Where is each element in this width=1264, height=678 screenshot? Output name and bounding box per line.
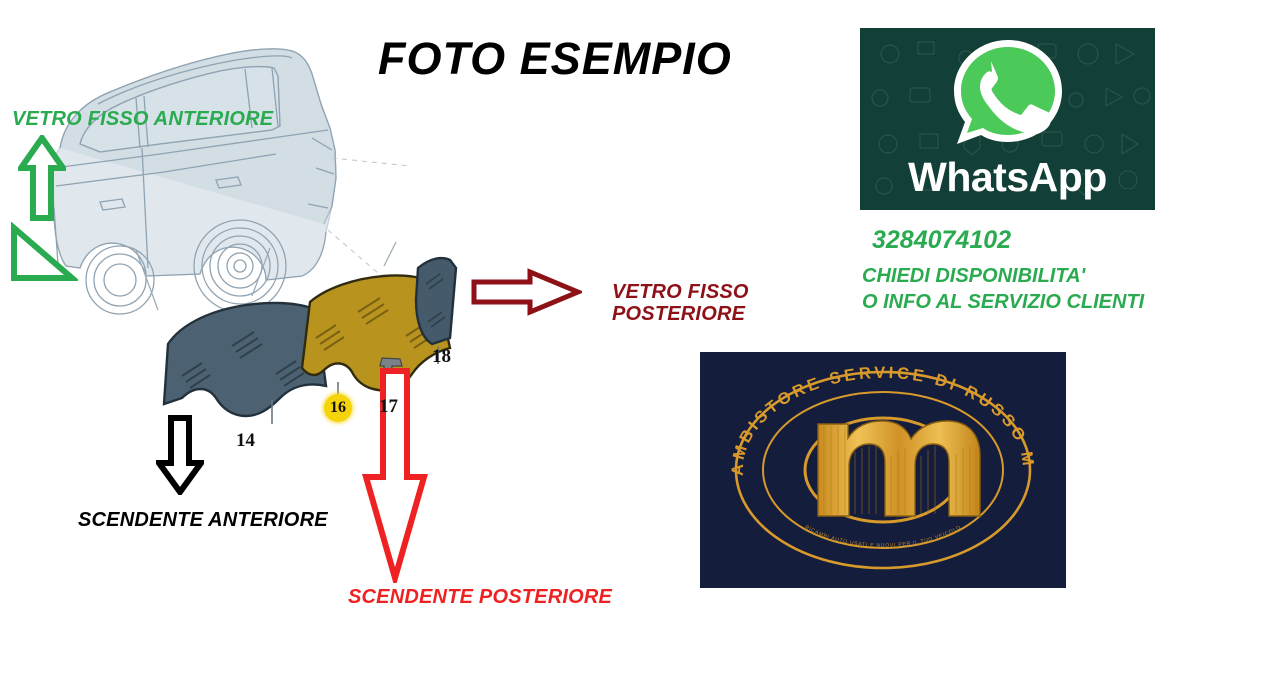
whatsapp-logo-icon xyxy=(945,34,1071,163)
darkred-right-arrow-icon xyxy=(470,268,582,321)
label-scendente-posteriore: SCENDENTE POSTERIORE xyxy=(348,586,612,608)
label-vetro-fisso-posteriore: VETRO FISSO POSTERIORE xyxy=(612,281,749,326)
shop-logo: MRICAMBISTORE SERVICE DI RUSSO MARCO RIC… xyxy=(700,352,1066,588)
part-number-18: 18 xyxy=(432,346,451,368)
screenshot-canvas: 14 16 17 18 FOTO ESEMPIO VETRO FISSO ANT… xyxy=(0,0,1264,678)
black-down-arrow-icon xyxy=(156,415,204,500)
part-number-17: 17 xyxy=(379,396,398,418)
whatsapp-banner[interactable]: WhatsApp xyxy=(860,28,1155,210)
green-triangle-icon xyxy=(8,222,78,289)
green-up-arrow-icon xyxy=(18,135,66,226)
contact-instruction-text: CHIEDI DISPONIBILITA' O INFO AL SERVIZIO… xyxy=(862,264,1144,315)
page-title: FOTO ESEMPIO xyxy=(378,33,732,85)
part-number-14: 14 xyxy=(236,430,255,452)
label-vetro-fisso-anteriore: VETRO FISSO ANTERIORE xyxy=(12,108,273,130)
contact-phone-number[interactable]: 3284074102 xyxy=(872,226,1011,255)
whatsapp-wordmark: WhatsApp xyxy=(860,154,1155,201)
part-badge-16: 16 xyxy=(324,394,352,422)
label-scendente-anteriore: SCENDENTE ANTERIORE xyxy=(78,509,328,531)
